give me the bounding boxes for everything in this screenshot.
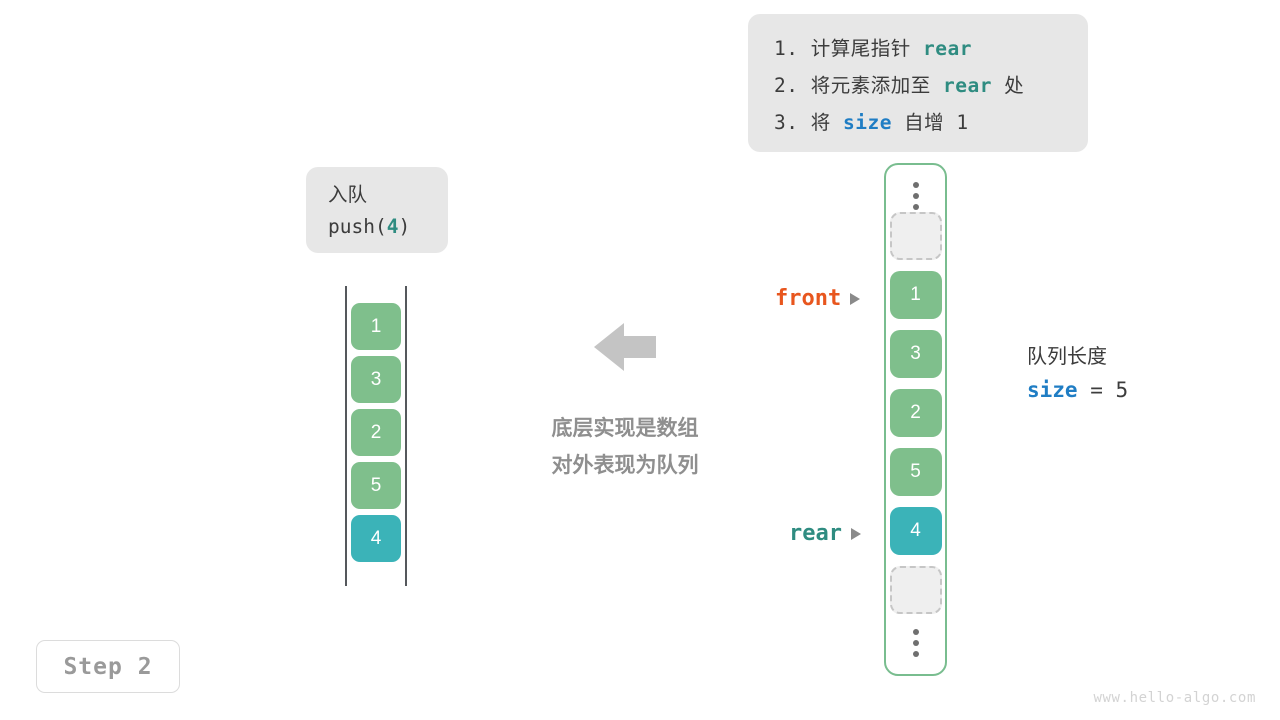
size-annotation-title: 队列长度 [1027,341,1128,373]
instruction-line-2: 2. 将元素添加至 rear 处 [774,67,1088,104]
left-queue-view: 13254 [345,286,407,586]
push-label-title: 入队 [328,179,448,211]
left-queue-cell: 3 [351,356,401,403]
front-pointer-label: front [775,286,860,311]
center-caption: 底层实现是数组 对外表现为队列 [500,410,750,484]
left-queue-cell-list: 13254 [351,303,401,568]
left-queue-cell: 2 [351,409,401,456]
right-array-cell-empty [890,566,942,614]
size-value: 5 [1116,378,1129,402]
rear-pointer-label: rear [789,521,861,546]
instruction-line-2-prefix: 2. 将元素添加至 [774,74,943,97]
center-caption-line-2: 对外表现为队列 [500,447,750,484]
push-operation-label: 入队 push(4) [306,167,448,253]
right-array-cell: 3 [890,330,942,378]
step-badge: Step 2 [36,640,180,693]
instruction-line-2-code: rear [943,74,992,97]
left-queue-cell: 5 [351,462,401,509]
instruction-line-3-code: size [843,111,892,134]
center-caption-line-1: 底层实现是数组 [500,410,750,447]
left-queue-cell: 4 [351,515,401,562]
pointer-arrow-icon [850,293,860,305]
vertical-ellipsis-icon-top [913,182,919,210]
push-call-prefix: push( [328,215,387,238]
right-array-view: 13254 [884,163,947,676]
dot [913,193,919,199]
instruction-line-1-code: rear [923,37,972,60]
right-array-cell-list: 13254 [890,212,942,625]
instruction-line-3: 3. 将 size 自增 1 [774,104,1088,141]
instruction-line-3-suffix: 自增 1 [892,111,969,134]
instruction-line-3-prefix: 3. 将 [774,111,843,134]
size-operator: = [1078,378,1116,402]
push-call-suffix: ) [398,215,410,238]
arrow-left-icon [594,321,656,373]
push-call-value: 4 [387,215,399,238]
rear-pointer-text: rear [789,521,842,546]
pointer-arrow-icon [851,528,861,540]
queue-rail-left [345,286,347,586]
size-annotation-expression: size = 5 [1027,373,1128,407]
instruction-line-1: 1. 计算尾指针 rear [774,30,1088,67]
right-array-cell: 2 [890,389,942,437]
diagram-canvas: 1. 计算尾指针 rear 2. 将元素添加至 rear 处 3. 将 size… [0,0,1280,720]
left-queue-cell: 1 [351,303,401,350]
push-label-call: push(4) [328,211,448,243]
instruction-line-2-suffix: 处 [992,74,1024,97]
dot [913,182,919,188]
size-variable-name: size [1027,378,1078,402]
right-array-cell: 4 [890,507,942,555]
dot [913,204,919,210]
dot [913,651,919,657]
queue-rail-right [405,286,407,586]
dot [913,629,919,635]
right-array-cell-empty [890,212,942,260]
step-badge-label: Step 2 [63,654,152,680]
watermark: www.hello-algo.com [1093,690,1256,706]
instruction-line-1-prefix: 1. 计算尾指针 [774,37,923,60]
size-annotation: 队列长度 size = 5 [1027,341,1128,407]
instruction-panel: 1. 计算尾指针 rear 2. 将元素添加至 rear 处 3. 将 size… [748,14,1088,152]
vertical-ellipsis-icon-bottom [913,629,919,657]
right-array-cell: 1 [890,271,942,319]
right-array-cell: 5 [890,448,942,496]
front-pointer-text: front [775,286,841,311]
dot [913,640,919,646]
